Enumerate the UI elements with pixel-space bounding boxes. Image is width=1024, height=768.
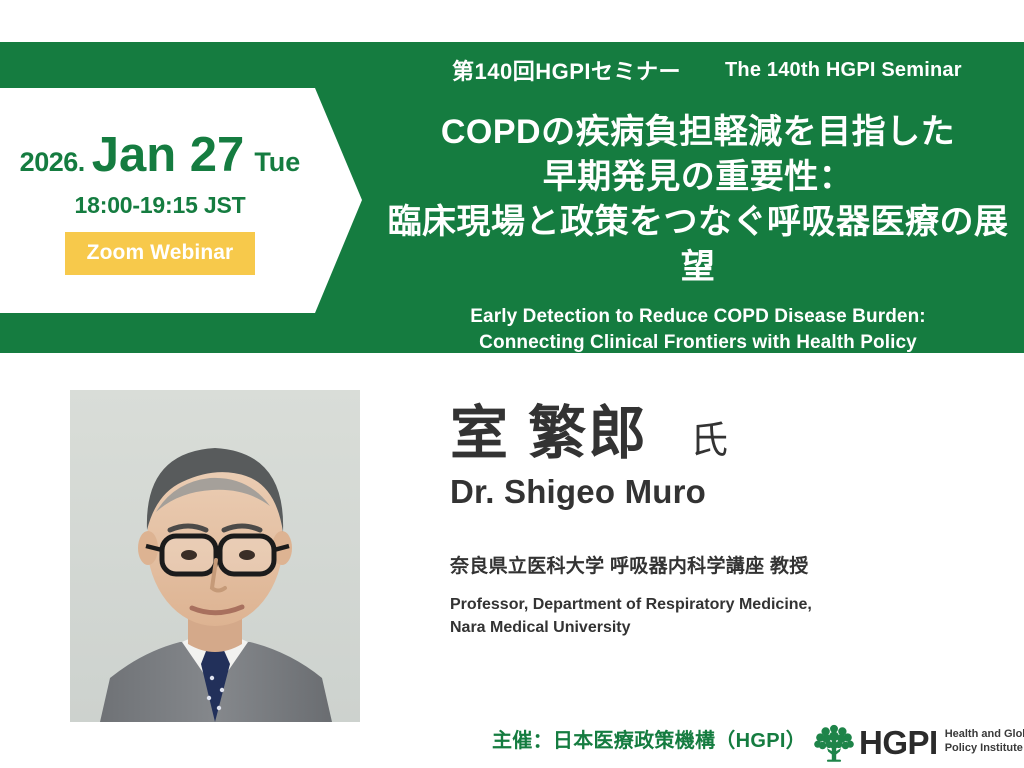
speaker-affiliation-jp: 奈良県立医科大学 呼吸器内科学講座 教授 (450, 551, 1010, 578)
title-en-line-1: Early Detection to Reduce COPD Disease B… (372, 304, 1024, 331)
hgpi-wordmark: HGPI (859, 726, 938, 759)
date-block: 2026. Jan 27 Tue 18:00-19:15 JST Zoom We… (0, 88, 320, 313)
speaker-affiliation-en: Professor, Department of Respiratory Med… (450, 594, 1010, 639)
hgpi-tagline-line-2: Policy Institute (945, 742, 1024, 756)
hgpi-tagline-line-1: Health and Global (945, 728, 1024, 742)
affiliation-en-line-1: Professor, Department of Respiratory Med… (450, 594, 1010, 617)
title-japanese: COPDの疾病負担軽減を目指した 早期発見の重要性： 臨床現場と政策をつなぐ呼吸… (372, 110, 1024, 290)
speaker-portrait (70, 390, 360, 722)
hgpi-tagline: Health and Global Policy Institute (945, 728, 1024, 755)
seminar-number-jp: 第140回HGPIセミナー (452, 54, 681, 86)
speaker-info: 室 繁郎 氏 Dr. Shigeo Muro 奈良県立医科大学 呼吸器内科学講座… (450, 404, 1010, 639)
seminar-number-line: 第140回HGPIセミナー The 140th HGPI Seminar (372, 54, 1012, 86)
zoom-webinar-badge: Zoom Webinar (65, 232, 256, 275)
date-year: 2026. (20, 147, 85, 178)
title-jp-line-2: 早期発見の重要性： (372, 155, 1024, 200)
hgpi-logo: HGPI Health and Global Policy Institute (812, 720, 1024, 764)
speaker-honorific: 氏 (690, 409, 728, 464)
title-english: Early Detection to Reduce COPD Disease B… (372, 304, 1024, 358)
date-line: 2026. Jan 27 Tue (20, 127, 301, 183)
title-en-line-2: Connecting Clinical Frontiers with Healt… (372, 330, 1024, 357)
title-jp-line-3: 臨床現場と政策をつなぐ呼吸器医療の展望 (372, 200, 1024, 290)
speaker-name-en: Dr. Shigeo Muro (450, 473, 1010, 511)
seminar-poster: 2026. Jan 27 Tue 18:00-19:15 JST Zoom We… (0, 0, 1024, 768)
seminar-number-en: The 140th HGPI Seminar (725, 59, 962, 82)
date-month-day: Jan 27 (92, 127, 245, 183)
title-jp-line-1: COPDの疾病負担軽減を目指した (372, 110, 1024, 155)
affiliation-en-line-2: Nara Medical University (450, 617, 1010, 640)
speaker-name-jp: 室 繁郎 (450, 404, 648, 465)
event-time: 18:00-19:15 JST (75, 192, 246, 219)
date-day-of-week: Tue (254, 147, 300, 178)
title-group: COPDの疾病負担軽減を目指した 早期発見の重要性： 臨床現場と政策をつなぐ呼吸… (372, 110, 1024, 357)
hgpi-tree-icon (812, 720, 856, 764)
organizer-text: 主催：日本医療政策機構（HGPI） (492, 724, 806, 753)
speaker-portrait-illustration (70, 390, 360, 722)
speaker-name-row: 室 繁郎 氏 (450, 404, 1010, 465)
